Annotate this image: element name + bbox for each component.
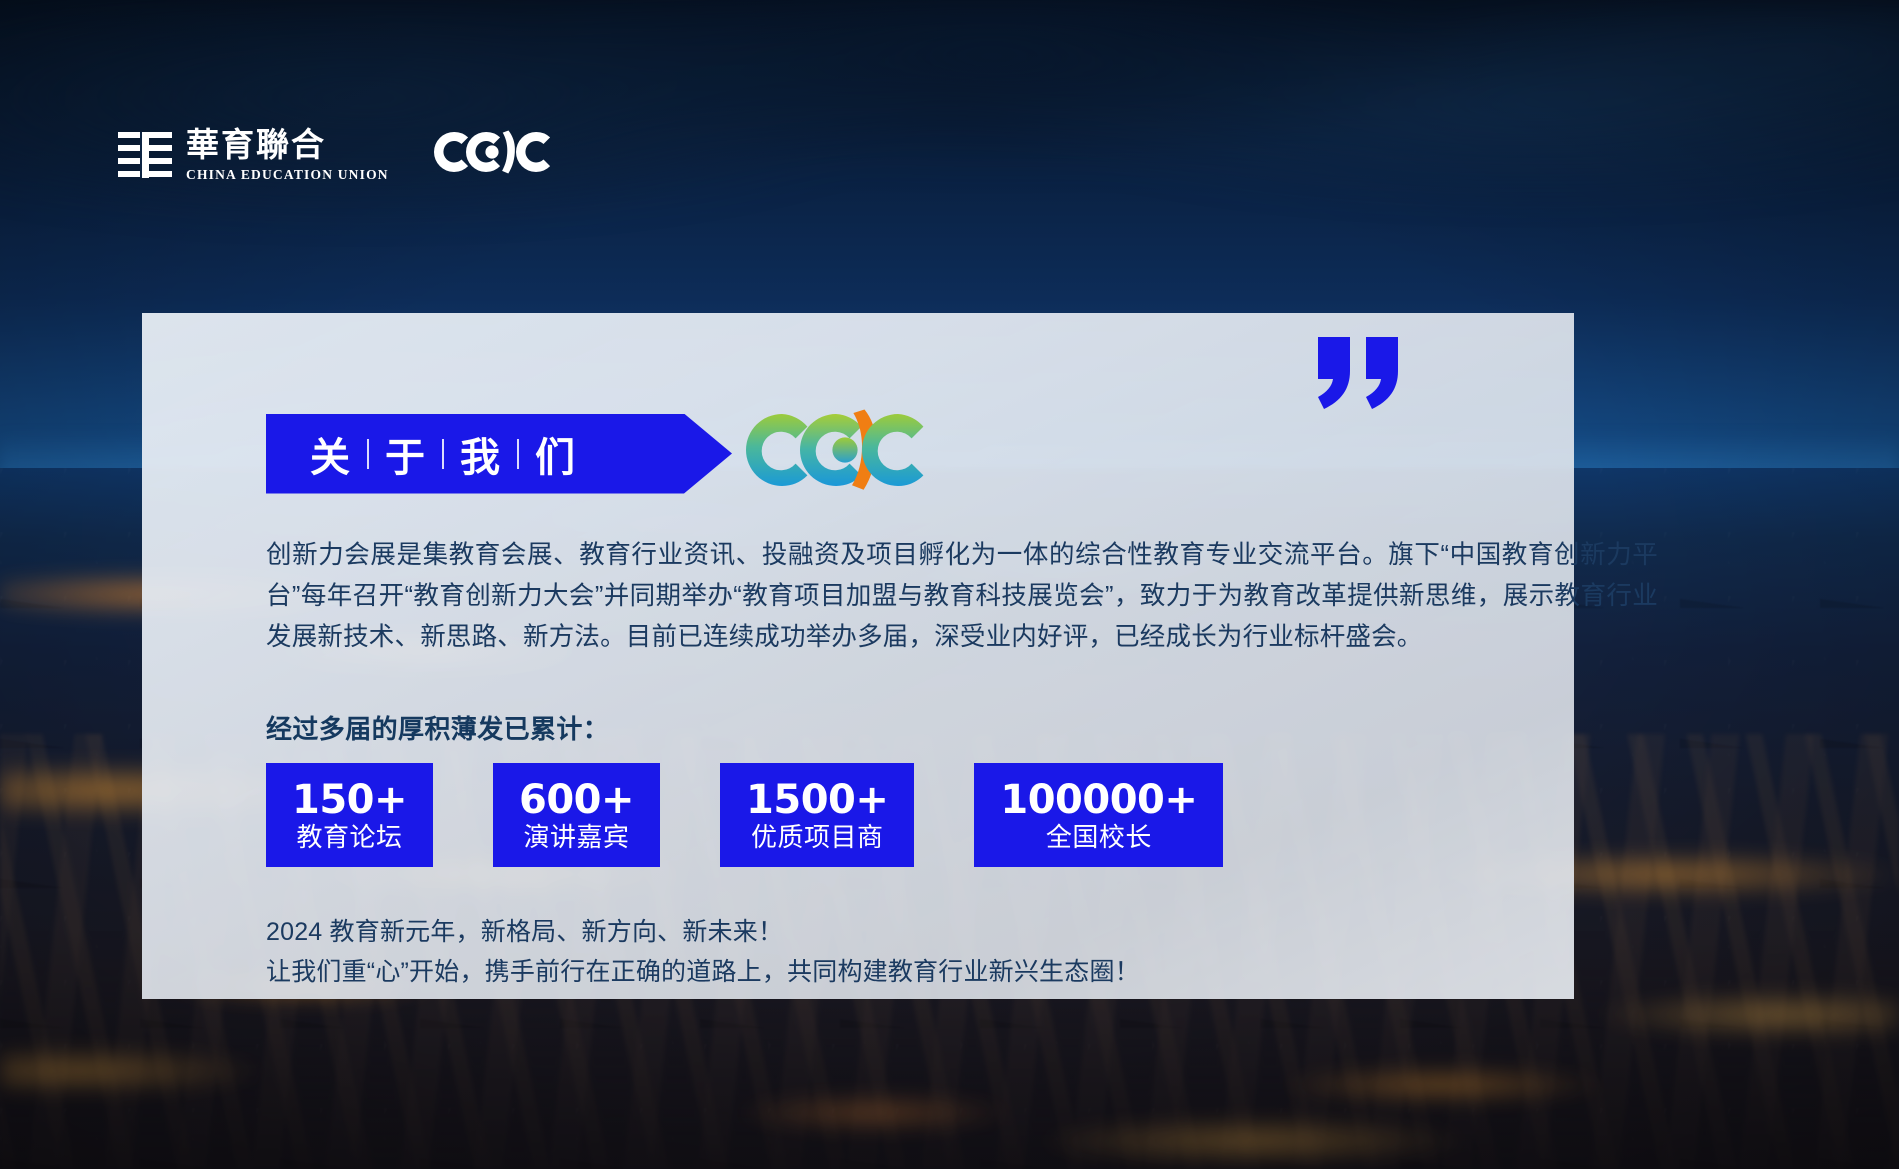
about-char-3: 我	[460, 425, 501, 483]
section-title-row: 关 于 我 们	[266, 408, 924, 499]
stat-label: 全国校长	[1046, 823, 1152, 852]
title-separator-3	[517, 439, 519, 469]
closing-quotation-mark-icon	[1316, 335, 1402, 416]
closing-line-2: 让我们重“心”开始，携手前行在正确的道路上，共同构建教育行业新兴生态圈！	[266, 953, 1140, 993]
title-separator-1	[367, 439, 369, 469]
about-char-4: 们	[535, 425, 576, 483]
slide-root: 華育聯合 CHINA EDUCATION UNION	[0, 0, 1899, 1169]
china-education-union-mark-icon	[118, 132, 172, 178]
about-us-card: 关 于 我 们	[142, 313, 1574, 999]
stat-number: 150+	[292, 780, 407, 821]
closing-line-1: 2024 教育新元年，新格局、新方向、新未来！	[266, 913, 1140, 953]
ceic-wordmark-color-icon	[746, 408, 924, 499]
stats-subheading: 经过多届的厚积薄发已累计：	[266, 709, 609, 746]
stat-number: 100000+	[1000, 780, 1197, 821]
about-char-2: 于	[385, 425, 426, 483]
stat-label: 优质项目商	[751, 823, 884, 852]
stats-row: 150+ 教育论坛 600+ 演讲嘉宾 1500+ 优质项目商 100000+ …	[266, 763, 1223, 867]
ceic-wordmark-white-icon	[429, 128, 559, 181]
org-name-en: CHINA EDUCATION UNION	[186, 168, 389, 182]
china-education-union-text: 華育聯合 CHINA EDUCATION UNION	[186, 128, 389, 182]
stat-card: 1500+ 优质项目商	[720, 763, 914, 867]
stat-label: 演讲嘉宾	[524, 823, 630, 852]
stat-label: 教育论坛	[297, 823, 403, 852]
about-paragraph: 创新力会展是集教育会展、教育行业资讯、投融资及项目孵化为一体的综合性教育专业交流…	[266, 535, 1658, 659]
stat-card: 150+ 教育论坛	[266, 763, 433, 867]
about-us-banner: 关 于 我 们	[266, 414, 732, 494]
closing-message: 2024 教育新元年，新格局、新方向、新未来！ 让我们重“心”开始，携手前行在正…	[266, 913, 1140, 992]
org-name-cn: 華育聯合	[186, 128, 389, 161]
about-char-1: 关	[310, 425, 351, 483]
stat-number: 600+	[519, 780, 634, 821]
title-separator-2	[442, 439, 444, 469]
about-us-label: 关 于 我 们	[310, 425, 576, 483]
stat-card: 600+ 演讲嘉宾	[493, 763, 660, 867]
china-education-union-logo: 華育聯合 CHINA EDUCATION UNION	[118, 128, 403, 182]
header-logo-group: 華育聯合 CHINA EDUCATION UNION	[118, 128, 559, 182]
stat-number: 1500+	[746, 780, 888, 821]
stat-card: 100000+ 全国校长	[974, 763, 1223, 867]
